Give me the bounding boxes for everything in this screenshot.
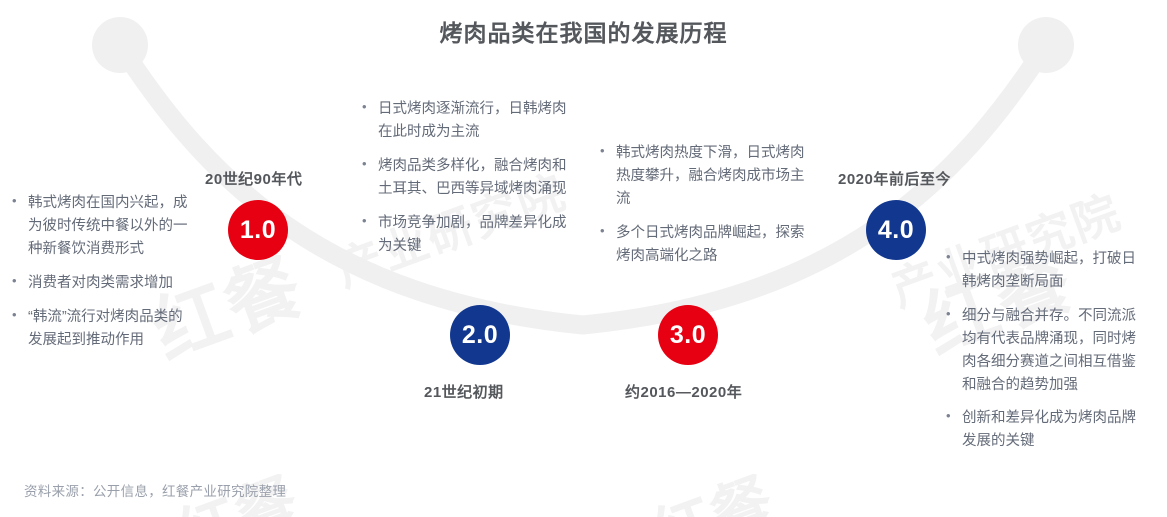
stage-bullets-3: 韩式烤肉热度下滑，日式烤肉热度攀升，融合烤肉成市场主流 多个日式烤肉品牌崛起，探… bbox=[600, 142, 810, 268]
page-title: 烤肉品类在我国的发展历程 bbox=[0, 14, 1167, 48]
stage-badge-2[interactable]: 2.0 bbox=[450, 305, 510, 365]
stage-bullets-1: 韩式烤肉在国内兴起，成为彼时传统中餐以外的一种新餐饮消费形式 消费者对肉类需求增… bbox=[12, 192, 192, 351]
stage-caption-2: 21世纪初期 bbox=[424, 381, 504, 402]
list-item: 多个日式烤肉品牌崛起，探索烤肉高端化之路 bbox=[600, 222, 810, 268]
watermark-brand: 红餐 bbox=[639, 451, 785, 517]
source-note: 资料来源：公开信息，红餐产业研究院整理 bbox=[24, 480, 286, 500]
stage-badge-1[interactable]: 1.0 bbox=[228, 200, 288, 260]
stage-caption-3: 约2016—2020年 bbox=[625, 381, 742, 402]
stage-badge-3[interactable]: 3.0 bbox=[658, 305, 718, 365]
stage-bullets-2: 日式烤肉逐渐流行，日韩烤肉在此时成为主流 烤肉品类多样化，融合烤肉和土耳其、巴西… bbox=[362, 98, 574, 257]
list-item: 韩式烤肉热度下滑，日式烤肉热度攀升，融合烤肉成市场主流 bbox=[600, 142, 810, 211]
list-item: 中式烤肉强势崛起，打破日韩烤肉垄断局面 bbox=[946, 248, 1146, 294]
stage-caption-4: 2020年前后至今 bbox=[838, 168, 951, 189]
list-item: 市场竞争加剧，品牌差异化成为关键 bbox=[362, 212, 574, 258]
stage-badge-4[interactable]: 4.0 bbox=[866, 200, 926, 260]
list-item: 创新和差异化成为烤肉品牌发展的关键 bbox=[946, 407, 1146, 453]
list-item: “韩流”流行对烤肉品类的发展起到推动作用 bbox=[12, 306, 192, 352]
list-item: 日式烤肉逐渐流行，日韩烤肉在此时成为主流 bbox=[362, 98, 574, 144]
list-item: 烤肉品类多样化，融合烤肉和土耳其、巴西等异域烤肉涌现 bbox=[362, 155, 574, 201]
stage-bullets-4: 中式烤肉强势崛起，打破日韩烤肉垄断局面 细分与融合并存。不同流派均有代表品牌涌现… bbox=[946, 248, 1146, 453]
list-item: 细分与融合并存。不同流派均有代表品牌涌现，同时烤肉各细分赛道之间相互借鉴和融合的… bbox=[946, 305, 1146, 397]
list-item: 韩式烤肉在国内兴起，成为彼时传统中餐以外的一种新餐饮消费形式 bbox=[12, 192, 192, 261]
list-item: 消费者对肉类需求增加 bbox=[12, 272, 192, 295]
stage-caption-1: 20世纪90年代 bbox=[205, 168, 302, 189]
infographic-root: 红餐 产业研究院 产业研究院 红餐 红餐 红餐 烤肉品类在我国的发展历程 20世… bbox=[0, 0, 1167, 517]
